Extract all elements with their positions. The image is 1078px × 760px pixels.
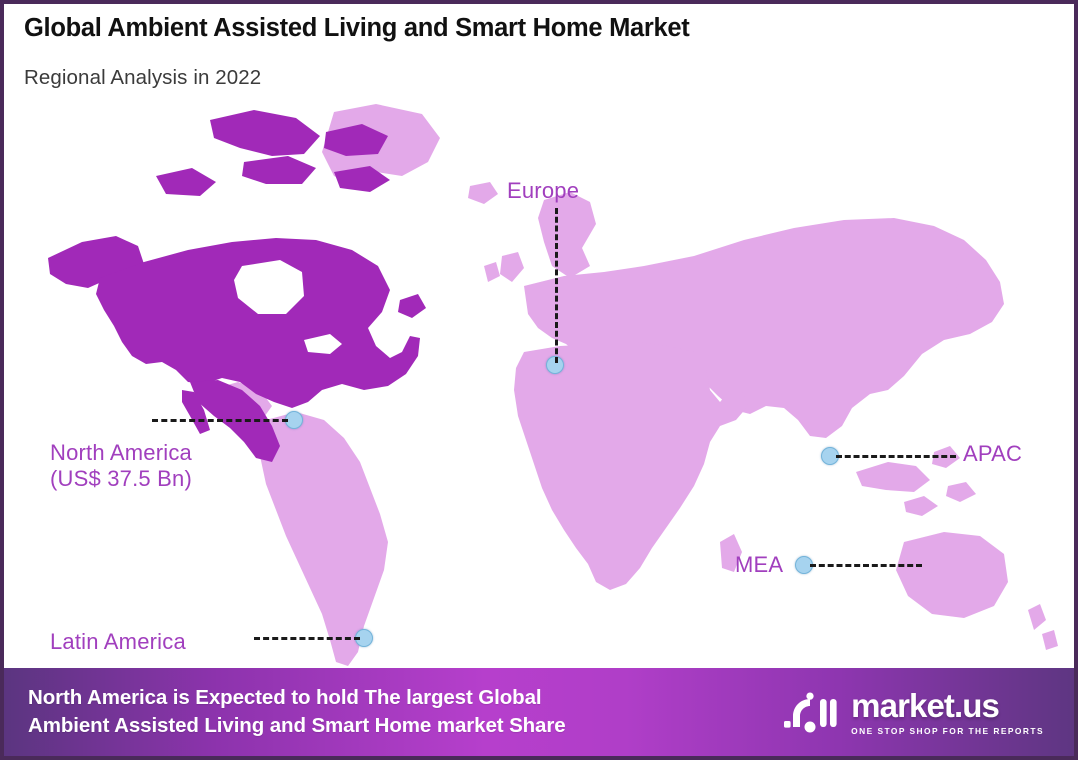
banner-message: North America is Expected to hold The la… bbox=[28, 684, 566, 741]
connector-line-mea bbox=[810, 564, 922, 567]
banner-message-line1: North America is Expected to hold The la… bbox=[28, 686, 541, 709]
market-us-logo-text: market.us ONE STOP SHOP FOR THE REPORTS bbox=[851, 689, 1044, 736]
region-label-mea: MEA bbox=[735, 552, 783, 578]
logo-wordmark: market.us bbox=[851, 689, 1044, 722]
connector-line-europe bbox=[555, 208, 558, 363]
market-us-logo[interactable]: market.us ONE STOP SHOP FOR THE REPORTS bbox=[782, 688, 1052, 736]
region-label-apac: APAC bbox=[963, 441, 1022, 467]
bottom-banner: North America is Expected to hold The la… bbox=[4, 668, 1074, 756]
infographic-root: Global Ambient Assisted Living and Smart… bbox=[0, 0, 1078, 760]
region-label-north-america: North America (US$ 37.5 Bn) bbox=[26, 440, 216, 492]
region-label-latin-america: Latin America bbox=[50, 629, 186, 655]
connector-line-apac bbox=[836, 455, 956, 458]
market-us-logo-icon bbox=[782, 688, 840, 736]
header: Global Ambient Assisted Living and Smart… bbox=[4, 4, 1074, 90]
region-label-north-america-name: North America bbox=[50, 440, 192, 465]
logo-tagline: ONE STOP SHOP FOR THE REPORTS bbox=[851, 726, 1044, 736]
page-subtitle: Regional Analysis in 2022 bbox=[24, 66, 1074, 90]
region-label-europe: Europe bbox=[507, 178, 579, 204]
world-map: Europe North America (US$ 37.5 Bn) APAC … bbox=[4, 90, 1074, 670]
world-map-svg bbox=[4, 90, 1074, 670]
page-title: Global Ambient Assisted Living and Smart… bbox=[24, 14, 1074, 42]
connector-line-north-america bbox=[152, 419, 288, 422]
banner-message-line2: Ambient Assisted Living and Smart Home m… bbox=[28, 712, 566, 740]
region-value-north-america: (US$ 37.5 Bn) bbox=[50, 466, 192, 491]
connector-line-latin-america bbox=[254, 637, 360, 640]
